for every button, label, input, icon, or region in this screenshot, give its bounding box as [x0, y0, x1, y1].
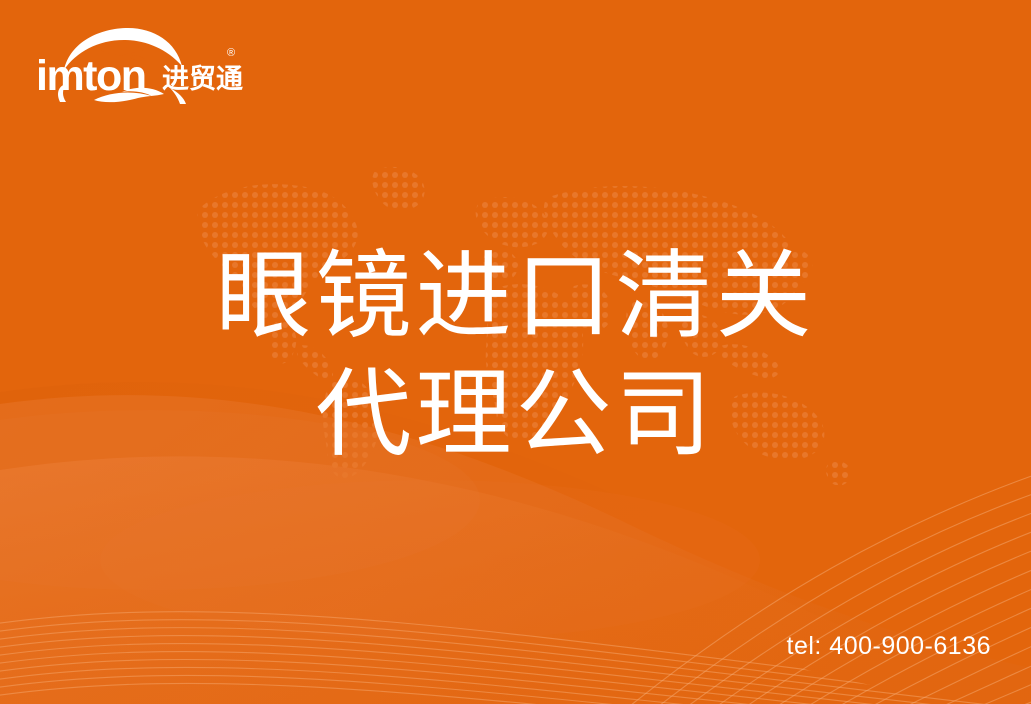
promo-banner: imton 进贸通 ® 眼镜进口清关 代理公司 tel: 400-900-613…	[0, 0, 1031, 704]
contact-phone[interactable]: tel: 400-900-6136	[787, 634, 991, 659]
headline-line-1: 眼镜进口清关	[0, 238, 1031, 356]
logo-wordmark: imton	[36, 55, 146, 98]
registered-mark-icon: ®	[227, 48, 235, 59]
company-logo[interactable]: imton 进贸通 ®	[36, 26, 246, 104]
logo-chinese-name: 进贸通	[162, 66, 243, 93]
headline-line-2: 代理公司	[0, 356, 1031, 474]
page-title: 眼镜进口清关 代理公司	[0, 238, 1031, 474]
